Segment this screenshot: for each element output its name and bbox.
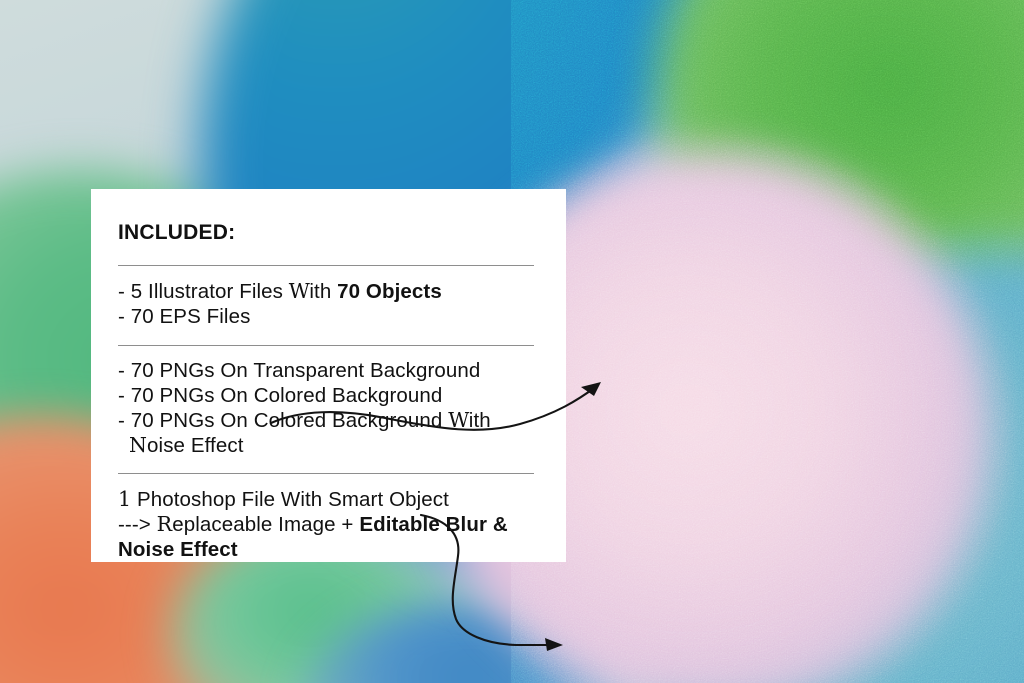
illustrator-files-prefix: - 5 Illustrator Files xyxy=(118,280,289,303)
group-photoshop-file: 1 Photoshop File With Smart Object ---> … xyxy=(118,487,534,562)
divider-1 xyxy=(118,265,534,266)
divider-3 xyxy=(118,473,534,474)
psd-smart-object-text: Photoshop File With Smart Object xyxy=(131,488,449,511)
list-item-psd-smart-object: 1 Photoshop File With Smart Object xyxy=(118,487,534,512)
psd-replaceable-mid: eplaceable Image + xyxy=(172,513,359,536)
group-png-files: - 70 PNGs On Transparent Background - 70… xyxy=(118,358,534,458)
list-item-png-transparent: - 70 PNGs On Transparent Background xyxy=(118,358,534,383)
list-item-eps-files: - 70 EPS Files xyxy=(118,304,534,329)
psd-replaceable-bold: Editable Blur & xyxy=(359,513,507,536)
stylized-n-glyph: N xyxy=(118,433,147,458)
group-vector-files: - 5 Illustrator Files With 70 Objects - … xyxy=(118,279,534,329)
poster-canvas: INCLUDED: - 5 Illustrator Files With 70 … xyxy=(0,0,1024,683)
divider-2 xyxy=(118,345,534,346)
png-noise-mid: ith xyxy=(469,409,491,432)
illustrator-files-bold: 70 Objects xyxy=(337,280,442,303)
stylized-one-glyph: 1 xyxy=(118,487,131,511)
psd-replaceable-prefix: ---> xyxy=(118,513,157,536)
illustrator-files-mid: ith xyxy=(309,280,337,303)
stylized-w-glyph-2: W xyxy=(448,408,469,432)
card-content: INCLUDED: - 5 Illustrator Files With 70 … xyxy=(118,189,534,562)
png-noise-prefix: - 70 PNGs On Colored Background xyxy=(118,409,448,432)
list-item-png-colored-noise: - 70 PNGs On Colored Background With xyxy=(118,408,534,433)
noise-effect-text: oise Effect xyxy=(147,434,243,457)
stylized-w-glyph: W xyxy=(289,279,310,303)
list-item-png-colored: - 70 PNGs On Colored Background xyxy=(118,383,534,408)
list-item-noise-effect-continuation: Noise Effect xyxy=(118,433,534,458)
list-item-psd-replaceable: ---> Replaceable Image + Editable Blur & xyxy=(118,512,534,537)
stylized-r-glyph: R xyxy=(157,512,173,536)
included-info-card: INCLUDED: - 5 Illustrator Files With 70 … xyxy=(91,189,566,562)
card-title: INCLUDED: xyxy=(118,189,534,245)
list-item-psd-noise-effect: Noise Effect xyxy=(118,537,534,562)
list-item-illustrator-files: - 5 Illustrator Files With 70 Objects xyxy=(118,279,534,304)
